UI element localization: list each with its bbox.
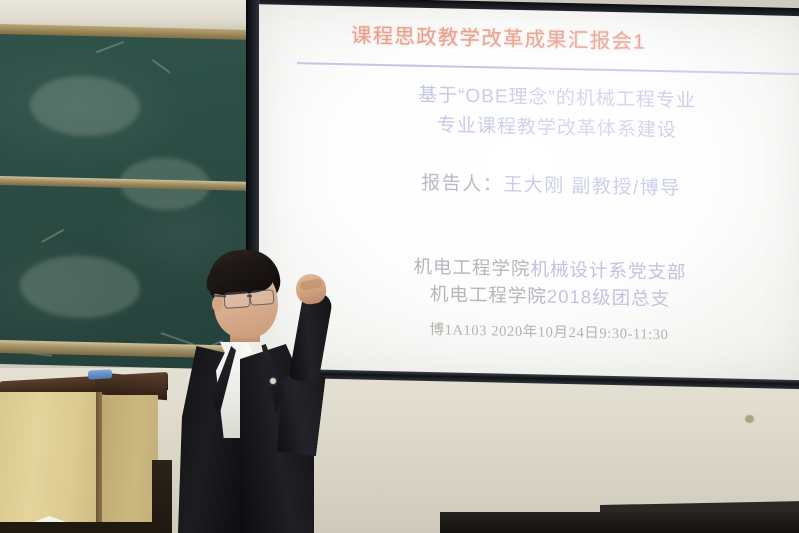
org1-gray-text: 机电工程学院 xyxy=(413,256,530,280)
blue-object-on-podium xyxy=(88,369,112,379)
org2-purple-text: 2018级团总支 xyxy=(547,286,670,310)
ear xyxy=(212,296,223,312)
podium-side-panel xyxy=(100,395,158,533)
slide-subtitle-line2: 专业课程教学改革体系建设 xyxy=(347,108,767,144)
lapel-pin xyxy=(270,378,276,384)
presenter-name: 王大刚 副教授/博导 xyxy=(503,175,681,200)
eyeglasses-left-lens xyxy=(223,291,250,309)
org1-purple-text: 机械设计系党支部 xyxy=(531,258,687,282)
slide-title: 课程思政教学改革成果汇报会1 xyxy=(351,18,791,58)
eyeglasses-bridge xyxy=(247,295,252,297)
podium-corner-edge xyxy=(96,392,102,533)
podium-base-shadow xyxy=(0,522,160,533)
slide-venue-datetime: 博1A103 2020年10月24日9:30-11:30 xyxy=(329,316,769,347)
slide-presenter-line: 报告人：王大刚 副教授/博导 xyxy=(331,166,771,203)
floor-band xyxy=(440,512,799,533)
org2-gray-text: 机电工程学院 xyxy=(430,283,547,307)
presenter-label: 报告人： xyxy=(421,173,503,196)
eyeglasses-right-lens xyxy=(250,289,275,306)
wall-blemish xyxy=(745,415,754,423)
slide-divider-rule xyxy=(297,62,799,75)
classroom-presentation-photo: 课程思政教学改革成果汇报会1 基于“OBE理念”的机械工程专业 专业课程教学改革… xyxy=(0,0,799,533)
presenter-person xyxy=(176,250,366,533)
podium-front-panel xyxy=(0,392,100,533)
